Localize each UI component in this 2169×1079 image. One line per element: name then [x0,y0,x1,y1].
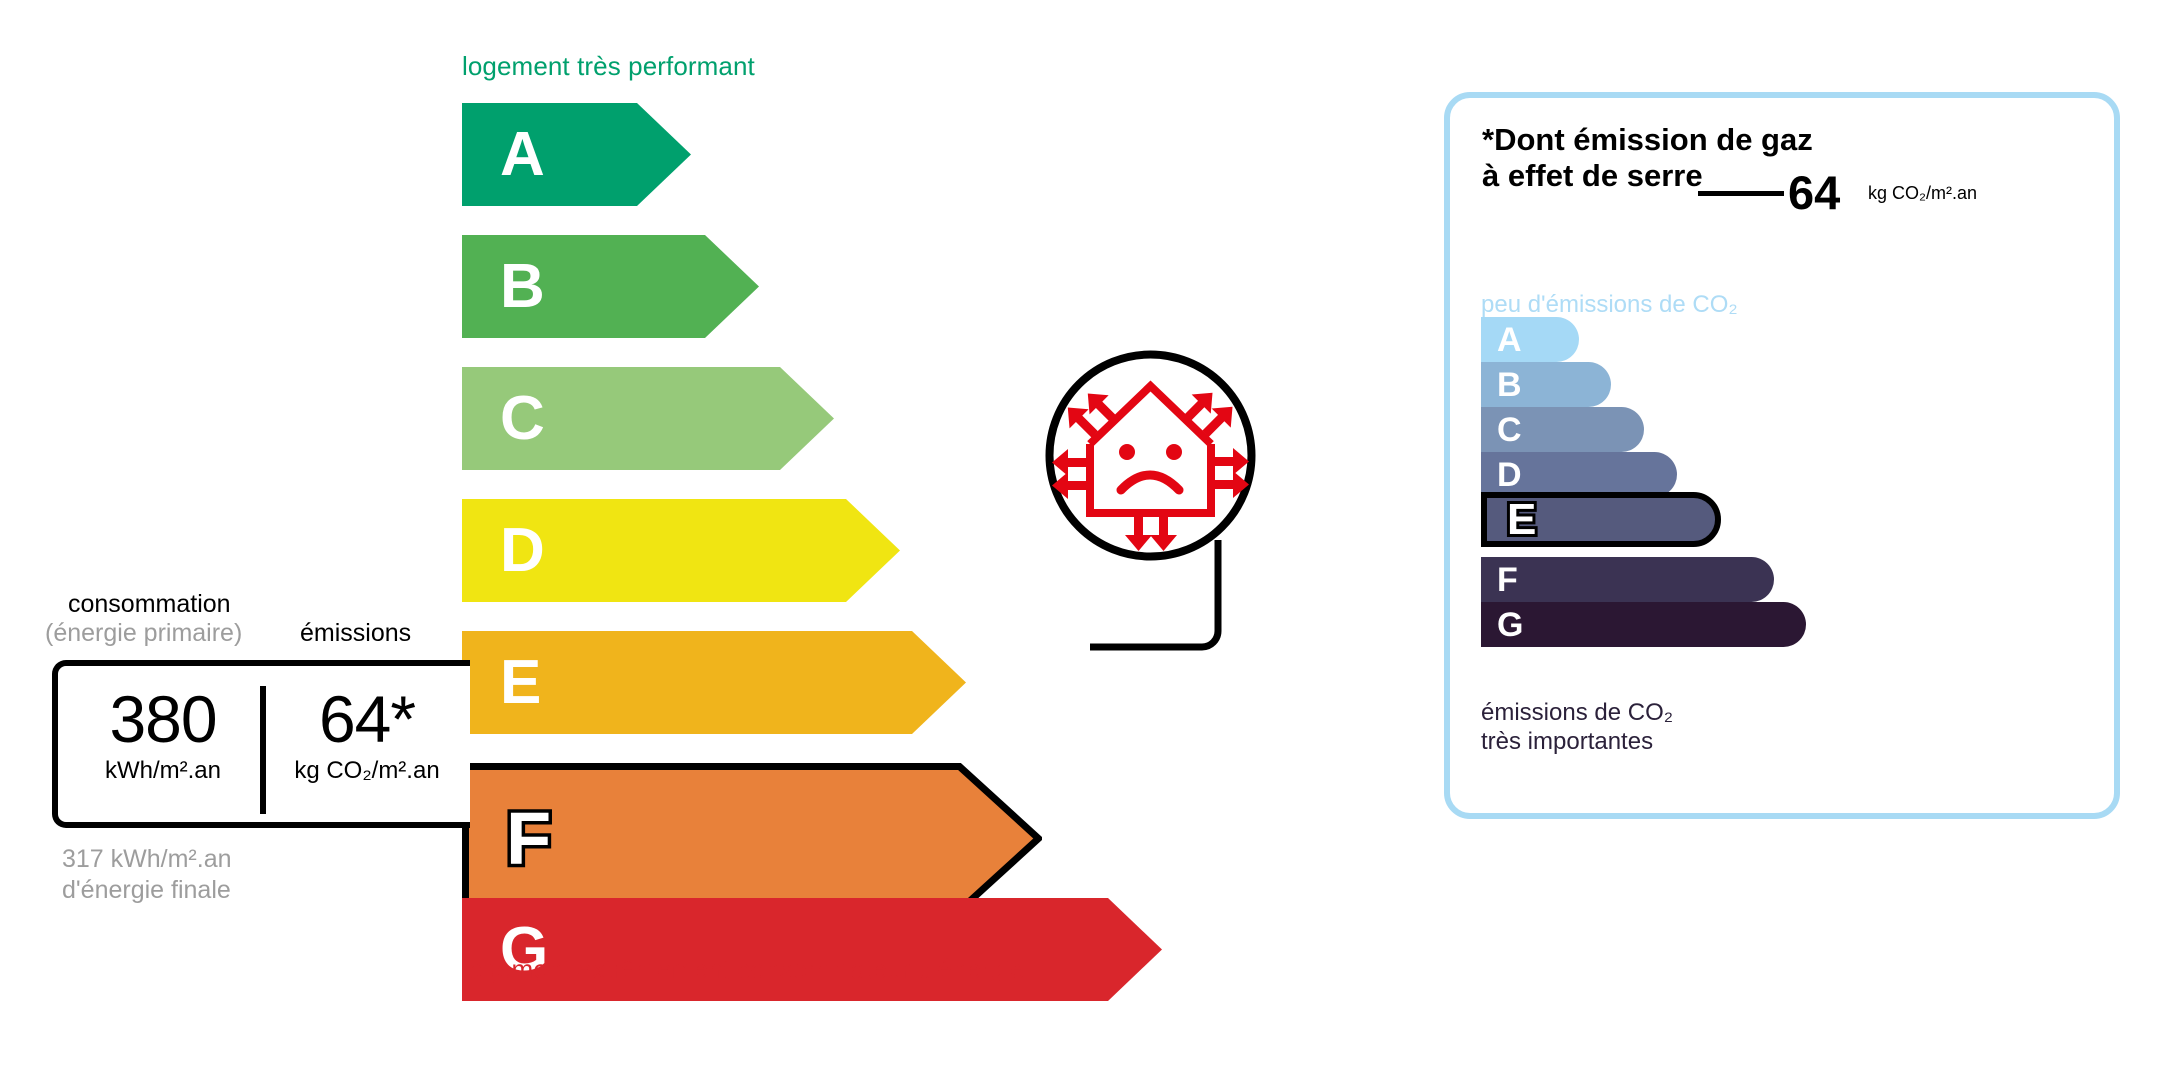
value-box: 380 kWh/m².an 64* kg CO₂/m².an [52,660,470,828]
ghg-value: 64 [1788,169,1840,216]
energy-performance-chart: logement très performant ABCDEFG logemen… [0,0,1400,1079]
energy-row-f: F [462,763,1042,914]
ghg-row-a: A [1481,317,1579,362]
ghg-title-line2: à effet de serre [1482,158,1703,193]
energy-row-c: C [462,367,834,470]
ghg-unit: kg CO₂/m².an [1868,184,1977,202]
ghg-callout-line [1698,191,1784,196]
energy-letter-b: B [500,256,545,318]
emissions-label: émissions [300,619,411,648]
final-energy-label: d'énergie finale [62,876,231,905]
energy-top-caption: logement très performant [462,51,755,82]
ghg-letter-d: D [1497,458,1522,492]
consumption-value: 380 [68,688,258,751]
energy-letter-a: A [500,124,545,186]
ghg-row-g: G [1481,602,1806,647]
ghg-letter-b: B [1497,368,1522,402]
energy-row-d: D [462,499,900,602]
energy-row-g: G [462,898,1162,1001]
energy-arrow-a [462,103,691,206]
ghg-panel-title: *Dont émission de gaz à effet de serre [1482,122,1813,194]
energy-letter-d: D [500,520,545,582]
ghg-row-e: E [1481,492,1721,547]
emission-value-cell: 64* kg CO₂/m².an [268,688,466,785]
ghg-letter-a: A [1497,323,1522,357]
final-energy-value: 317 kWh/m².an [62,845,232,874]
energy-row-b: B [462,235,759,338]
consumption-unit: kWh/m².an [68,758,258,784]
ghg-title-line1: *Dont émission de gaz [1482,122,1813,157]
emission-value: 64* [268,688,466,751]
energy-letter-e: E [500,652,541,714]
consumption-label: consommation [68,590,231,619]
ghg-bottom-line1: émissions de CO₂ [1481,699,1673,726]
ghg-row-c: C [1481,407,1644,452]
energy-row-e: E [462,631,966,734]
consumption-sublabel: (énergie primaire) [45,619,242,648]
ghg-row-b: B [1481,362,1611,407]
energy-bottom-caption: logement extrêmement consommateur d'éner… [462,954,1025,985]
ghg-bottom-caption: émissions de CO₂ très importantes [1481,699,1673,757]
leaky-house-sad-face-icon [1043,348,1258,563]
value-divider [260,686,266,814]
ghg-letter-g: G [1497,608,1523,642]
energy-letter-f: F [506,802,551,876]
ghg-bottom-line2: très importantes [1481,728,1653,755]
ghg-row-d: D [1481,452,1677,497]
ghg-letter-f: F [1497,563,1518,597]
ghg-top-caption: peu d'émissions de CO₂ [1481,291,1738,319]
energy-arrow-g [462,898,1162,1001]
emission-unit: kg CO₂/m².an [268,758,466,784]
energy-row-a: A [462,103,691,206]
ghg-row-f: F [1481,557,1774,602]
ghg-letter-e: E [1507,498,1536,542]
ghg-letter-c: C [1497,413,1522,447]
consumption-value-cell: 380 kWh/m².an [68,688,258,785]
ghg-emissions-panel: *Dont émission de gaz à effet de serre p… [1444,92,2120,819]
energy-letter-c: C [500,388,545,450]
